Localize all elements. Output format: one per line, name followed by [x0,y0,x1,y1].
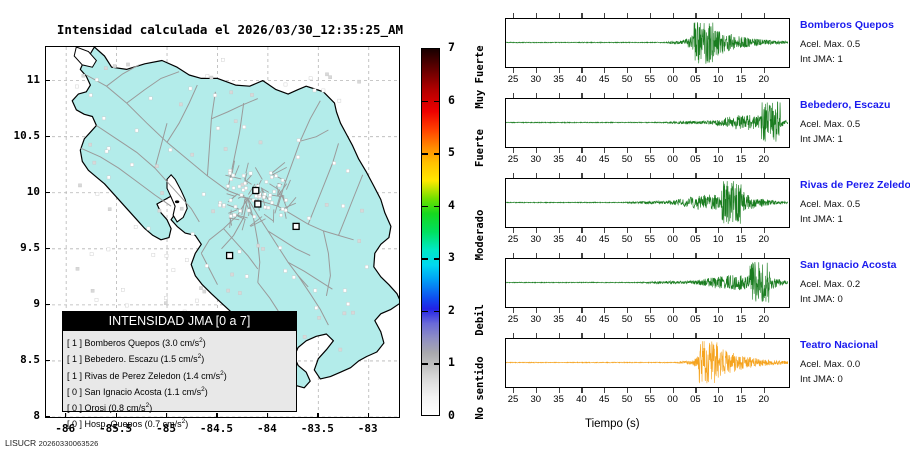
seismogram-time-tick [536,148,537,153]
legend-intensity: [ 1 ] [67,371,82,381]
seismogram-time-tick [559,13,560,18]
map-y-tick [45,416,50,417]
colorbar-tick-label: 1 [448,355,455,369]
seismogram-time-label: 10 [707,314,729,325]
seismogram-time-tick [650,68,651,73]
seismogram-time-tick [513,13,514,18]
seismogram-time-tick [627,173,628,178]
seismogram-time-tick [764,228,765,233]
seismogram-time-label: 05 [684,154,706,165]
seismogram-time-tick [673,228,674,233]
seismogram-time-label: 30 [525,74,547,85]
seismogram-time-tick [673,173,674,178]
seismogram-time-tick [581,253,582,258]
seismogram-time-label: 35 [548,314,570,325]
seismogram-time-tick [673,333,674,338]
seismogram-time-tick [764,93,765,98]
seismogram-time-tick [718,333,719,338]
legend-row: [ 0 ] San Ignacio Acosta (1.1 cm/s2) [67,383,296,399]
seismogram-time-label: 00 [662,314,684,325]
map-y-tick [45,304,50,305]
seismogram-time-tick [513,388,514,393]
seismogram-time-label: 00 [662,74,684,85]
seismogram-time-tick [581,68,582,73]
seismogram-time-tick [673,68,674,73]
seismogram-time-tick [695,148,696,153]
map-y-tick [45,192,50,193]
seismogram-time-tick [764,333,765,338]
seismogram-time-tick [764,388,765,393]
seismogram-time-tick [695,388,696,393]
seismogram-time-tick [718,68,719,73]
colorbar-tick-label: 3 [448,250,455,264]
colorbar-category-label: Muy Fuerte [474,45,486,108]
seismogram-time-tick [718,308,719,313]
seismogram-time-label: 50 [616,314,638,325]
seismogram-trace[interactable] [505,338,790,388]
legend-accel: (1.4 cm/s2) [181,371,227,381]
seismogram-time-tick [581,93,582,98]
seismogram-time-tick [764,173,765,178]
seismogram-time-label: 40 [570,74,592,85]
seismogram-time-tick [513,148,514,153]
legend-intensity: [ 1 ] [67,338,82,348]
legend-row: [ 1 ] Bomberos Quepos (3.0 cm/s2) [67,334,296,350]
seismogram-station-name: Rivas de Perez Zeledon [800,179,910,191]
seismogram-time-tick [581,13,582,18]
colorbar-tick [434,311,440,312]
legend-station: Bebedero. Escazu [85,354,159,364]
seismogram-time-label: 30 [525,154,547,165]
seismogram-time-label: 20 [753,234,775,245]
map-x-tick [368,413,369,418]
seismogram-time-label: 55 [639,154,661,165]
seismogram-time-tick [513,173,514,178]
seismogram-time-tick [627,13,628,18]
legend-row: [ 0 ] Orosi (0.8 cm/s2) [67,399,296,415]
page-title: Intensidad calculada el 2026/03/30_12:35… [0,22,460,37]
seismogram-time-label: 25 [502,234,524,245]
seismogram-time-tick [650,13,651,18]
seismogram-time-tick [604,228,605,233]
legend-row: [ 1 ] Rivas de Perez Zeledon (1.4 cm/s2) [67,367,296,383]
legend-accel: (0.8 cm/s2) [106,403,152,413]
seismogram-time-tick [695,228,696,233]
legend-intensity: [ 1 ] [67,354,82,364]
legend-intensity: [ 0 ] [67,419,82,429]
seismogram-accel-label: Acel. Max. 0.5 [800,39,860,50]
seismogram-time-label: 00 [662,394,684,405]
seismogram-time-tick [695,93,696,98]
seismogram-time-label: 05 [684,394,706,405]
legend-station: Rivas de Perez Zeledon [85,371,181,381]
seismogram-intensity-label: Int JMA: 0 [800,294,843,305]
seismogram-time-tick [627,68,628,73]
seismogram-time-label: 50 [616,154,638,165]
seismogram-time-tick [673,93,674,98]
map-y-tick-label: 8 [0,409,40,422]
map-y-tick-label: 9 [0,297,40,310]
seismogram-time-tick [559,388,560,393]
seismogram-time-label: 00 [662,154,684,165]
colorbar-category-label: Debil [474,304,486,336]
legend-intensity: [ 0 ] [67,387,82,397]
seismogram-time-tick [695,333,696,338]
colorbar-tick [434,206,440,207]
seismogram-time-label: 30 [525,394,547,405]
seismogram-time-tick [650,93,651,98]
legend-station: Orosi [85,403,107,413]
seismogram-station-name: Teatro Nacional [800,339,878,351]
seismogram-time-tick [581,173,582,178]
colorbar-tick-label: 5 [448,145,455,159]
seismogram-time-tick [513,68,514,73]
seismogram-time-label: 15 [730,234,752,245]
seismogram-time-label: 05 [684,74,706,85]
seismogram-time-label: 35 [548,234,570,245]
seismogram-time-tick [604,148,605,153]
colorbar-tick [434,153,440,154]
seismogram-time-label: 40 [570,234,592,245]
legend-accel: (1.1 cm/s2) [162,387,208,397]
seismogram-time-tick [741,93,742,98]
legend-row: [ 0 ] Hosp. Quepos (0.7 cm/s2) [67,415,296,431]
seismogram-time-tick [627,308,628,313]
seismogram-time-tick [695,68,696,73]
seismogram-time-label: 15 [730,394,752,405]
seismogram-time-tick [673,388,674,393]
seismogram-time-tick [764,148,765,153]
seismogram-time-tick [650,333,651,338]
seismogram-time-label: 05 [684,314,706,325]
seismogram-time-tick [604,93,605,98]
time-axis-label: Tiempo (s) [585,418,640,430]
seismogram-time-tick [536,68,537,73]
colorbar-tick-label: 4 [448,198,455,212]
seismogram-time-tick [536,93,537,98]
seismogram-time-tick [559,308,560,313]
seismogram-time-tick [764,253,765,258]
colorbar-tick [422,311,428,312]
seismogram-intensity-label: Int JMA: 0 [800,374,843,385]
map-y-tick-label: 10 [0,185,40,198]
seismogram-time-tick [741,333,742,338]
seismogram-time-tick [559,173,560,178]
seismogram-time-label: 40 [570,394,592,405]
colorbar-tick [422,101,428,102]
seismogram-time-tick [673,253,674,258]
seismogram-time-label: 50 [616,234,638,245]
seismogram-time-tick [604,333,605,338]
colorbar-tick [422,363,428,364]
seismogram-waveform [506,259,788,306]
seismogram-time-tick [581,148,582,153]
seismogram-time-tick [695,13,696,18]
seismogram-time-tick [536,173,537,178]
seismogram-time-tick [650,308,651,313]
seismogram-time-tick [513,308,514,313]
seismogram-time-tick [673,148,674,153]
colorbar-category-label: Fuerte [474,129,486,167]
seismogram-time-tick [559,148,560,153]
map-y-tick-label: 9.5 [0,241,40,254]
seismogram-time-label: 25 [502,314,524,325]
seismogram-time-tick [718,228,719,233]
seismogram-time-label: 35 [548,154,570,165]
seismogram-time-tick [604,308,605,313]
legend-intensity: [ 0 ] [67,403,82,413]
seismogram-time-tick [536,388,537,393]
colorbar-category-label: No sentido [474,357,486,420]
seismogram-time-label: 45 [593,314,615,325]
seismogram-time-label: 15 [730,74,752,85]
colorbar-tick [422,206,428,207]
seismogram-station-name: San Ignacio Acosta [800,259,896,271]
seismogram-time-label: 25 [502,394,524,405]
seismogram-time-label: 15 [730,314,752,325]
seismogram-accel-label: Acel. Max. 0.5 [800,119,860,130]
seismogram-time-tick [559,93,560,98]
seismogram-time-tick [559,253,560,258]
seismogram-time-label: 55 [639,394,661,405]
seismogram-time-tick [627,388,628,393]
seismogram-time-label: 10 [707,74,729,85]
seismogram-time-tick [741,173,742,178]
intensity-colorbar [421,48,440,416]
seismogram-station-name: Bebedero, Escazu [800,99,890,111]
map-y-tick [45,360,50,361]
seismogram-waveform [506,339,788,386]
seismogram-time-tick [536,13,537,18]
seismogram-time-tick [536,333,537,338]
seismogram-time-label: 15 [730,154,752,165]
footer-lab: LISUCR [5,438,36,448]
seismogram-trace[interactable] [505,178,790,228]
seismogram-time-tick [627,93,628,98]
seismogram-time-tick [673,308,674,313]
seismogram-waveform [506,19,788,66]
map-y-tick-label: 10.5 [0,129,40,142]
seismogram-time-label: 10 [707,154,729,165]
seismogram-time-label: 40 [570,314,592,325]
seismogram-time-tick [627,333,628,338]
legend-accel: (3.0 cm/s2) [160,338,206,348]
seismogram-time-tick [673,13,674,18]
seismogram-time-tick [604,253,605,258]
seismogram-time-tick [581,308,582,313]
seismogram-intensity-label: Int JMA: 1 [800,214,843,225]
legend-station: San Ignacio Acosta [85,387,162,397]
seismogram-time-label: 40 [570,154,592,165]
seismogram-time-tick [513,228,514,233]
seismogram-time-tick [650,388,651,393]
seismogram-time-label: 30 [525,234,547,245]
seismogram-time-tick [718,148,719,153]
seismogram-time-label: 05 [684,234,706,245]
seismogram-time-tick [741,13,742,18]
seismogram-waveform [506,99,788,146]
seismogram-time-tick [741,388,742,393]
seismogram-time-tick [695,253,696,258]
seismogram-time-tick [536,228,537,233]
seismogram-time-tick [513,253,514,258]
seismogram-time-tick [650,253,651,258]
map-y-tick-label: 8.5 [0,353,40,366]
map-y-tick [45,80,50,81]
seismogram-time-tick [604,13,605,18]
seismogram-time-label: 35 [548,74,570,85]
seismogram-intensity-label: Int JMA: 1 [800,54,843,65]
seismogram-time-label: 20 [753,74,775,85]
map-x-tick [317,413,318,418]
seismogram-time-tick [718,173,719,178]
map-y-tick-label: 11 [0,73,40,86]
seismogram-time-tick [604,388,605,393]
legend-row: [ 1 ] Bebedero. Escazu (1.5 cm/s2) [67,350,296,366]
colorbar-tick-label: 2 [448,303,455,317]
seismogram-time-tick [604,68,605,73]
colorbar-tick [434,101,440,102]
seismogram-time-label: 45 [593,234,615,245]
seismogram-station-name: Bomberos Quepos [800,19,894,31]
seismogram-time-label: 50 [616,74,638,85]
seismogram-time-tick [650,173,651,178]
seismogram-trace[interactable] [505,98,790,148]
seismogram-time-label: 35 [548,394,570,405]
seismogram-time-label: 10 [707,394,729,405]
seismogram-accel-label: Acel. Max. 0.5 [800,199,860,210]
seismogram-intensity-label: Int JMA: 1 [800,134,843,145]
seismogram-time-tick [695,173,696,178]
seismogram-time-label: 50 [616,394,638,405]
seismogram-time-label: 20 [753,154,775,165]
seismogram-time-tick [513,93,514,98]
footer-id: LISUCR 20260330063526 [5,438,98,448]
seismogram-time-tick [559,68,560,73]
seismogram-time-label: 30 [525,314,547,325]
seismogram-time-tick [604,173,605,178]
seismogram-time-tick [536,308,537,313]
seismogram-time-tick [627,253,628,258]
colorbar-tick [422,153,428,154]
seismogram-time-label: 00 [662,234,684,245]
seismogram-time-tick [764,13,765,18]
seismogram-time-tick [695,308,696,313]
seismogram-time-label: 55 [639,234,661,245]
seismogram-accel-label: Acel. Max. 0.0 [800,359,860,370]
seismogram-time-tick [581,333,582,338]
colorbar-tick [422,258,428,259]
seismogram-time-tick [741,253,742,258]
seismogram-time-tick [764,68,765,73]
legend-station: Hosp. Quepos [85,419,143,429]
seismogram-time-tick [650,148,651,153]
seismogram-time-tick [741,68,742,73]
seismogram-time-tick [650,228,651,233]
seismogram-time-tick [536,253,537,258]
seismogram-time-label: 10 [707,234,729,245]
seismogram-time-tick [741,228,742,233]
seismogram-accel-label: Acel. Max. 0.2 [800,279,860,290]
seismogram-time-tick [559,228,560,233]
seismogram-trace[interactable] [505,258,790,308]
legend-header: INTENSIDAD JMA [0 a 7] [63,312,296,331]
seismogram-time-tick [581,388,582,393]
seismogram-time-label: 25 [502,74,524,85]
seismogram-time-label: 25 [502,154,524,165]
seismogram-time-label: 55 [639,74,661,85]
colorbar-tick [434,258,440,259]
colorbar-tick-label: 0 [448,408,455,422]
map-y-tick [45,136,50,137]
colorbar-tick-label: 7 [448,40,455,54]
map-x-tick-label: -83 [338,422,398,435]
legend-accel: (1.5 cm/s2) [158,354,204,364]
seismogram-time-tick [627,228,628,233]
seismogram-time-label: 55 [639,314,661,325]
colorbar-tick [434,363,440,364]
legend-list: [ 1 ] Bomberos Quepos (3.0 cm/s2)[ 1 ] B… [63,331,296,432]
seismogram-time-tick [764,308,765,313]
seismogram-time-tick [513,333,514,338]
legend-accel: (0.7 cm/s2) [142,419,188,429]
seismogram-time-tick [581,228,582,233]
seismogram-time-label: 45 [593,394,615,405]
intensity-legend: INTENSIDAD JMA [0 a 7] [ 1 ] Bomberos Qu… [62,311,297,412]
seismogram-waveform [506,179,788,226]
seismogram-time-tick [627,148,628,153]
seismogram-time-tick [718,388,719,393]
colorbar-category-label: Moderado [474,209,486,260]
legend-station: Bomberos Quepos [85,338,160,348]
map-y-tick [45,248,50,249]
seismogram-time-tick [718,253,719,258]
colorbar-tick-label: 6 [448,93,455,107]
seismogram-time-tick [559,333,560,338]
seismogram-trace[interactable] [505,18,790,68]
footer-number: 20260330063526 [39,439,99,448]
seismogram-time-label: 45 [593,74,615,85]
seismogram-time-label: 45 [593,154,615,165]
seismogram-time-tick [718,13,719,18]
seismogram-time-label: 20 [753,394,775,405]
seismogram-time-label: 20 [753,314,775,325]
seismogram-time-tick [741,148,742,153]
seismogram-time-tick [718,93,719,98]
seismogram-time-tick [741,308,742,313]
